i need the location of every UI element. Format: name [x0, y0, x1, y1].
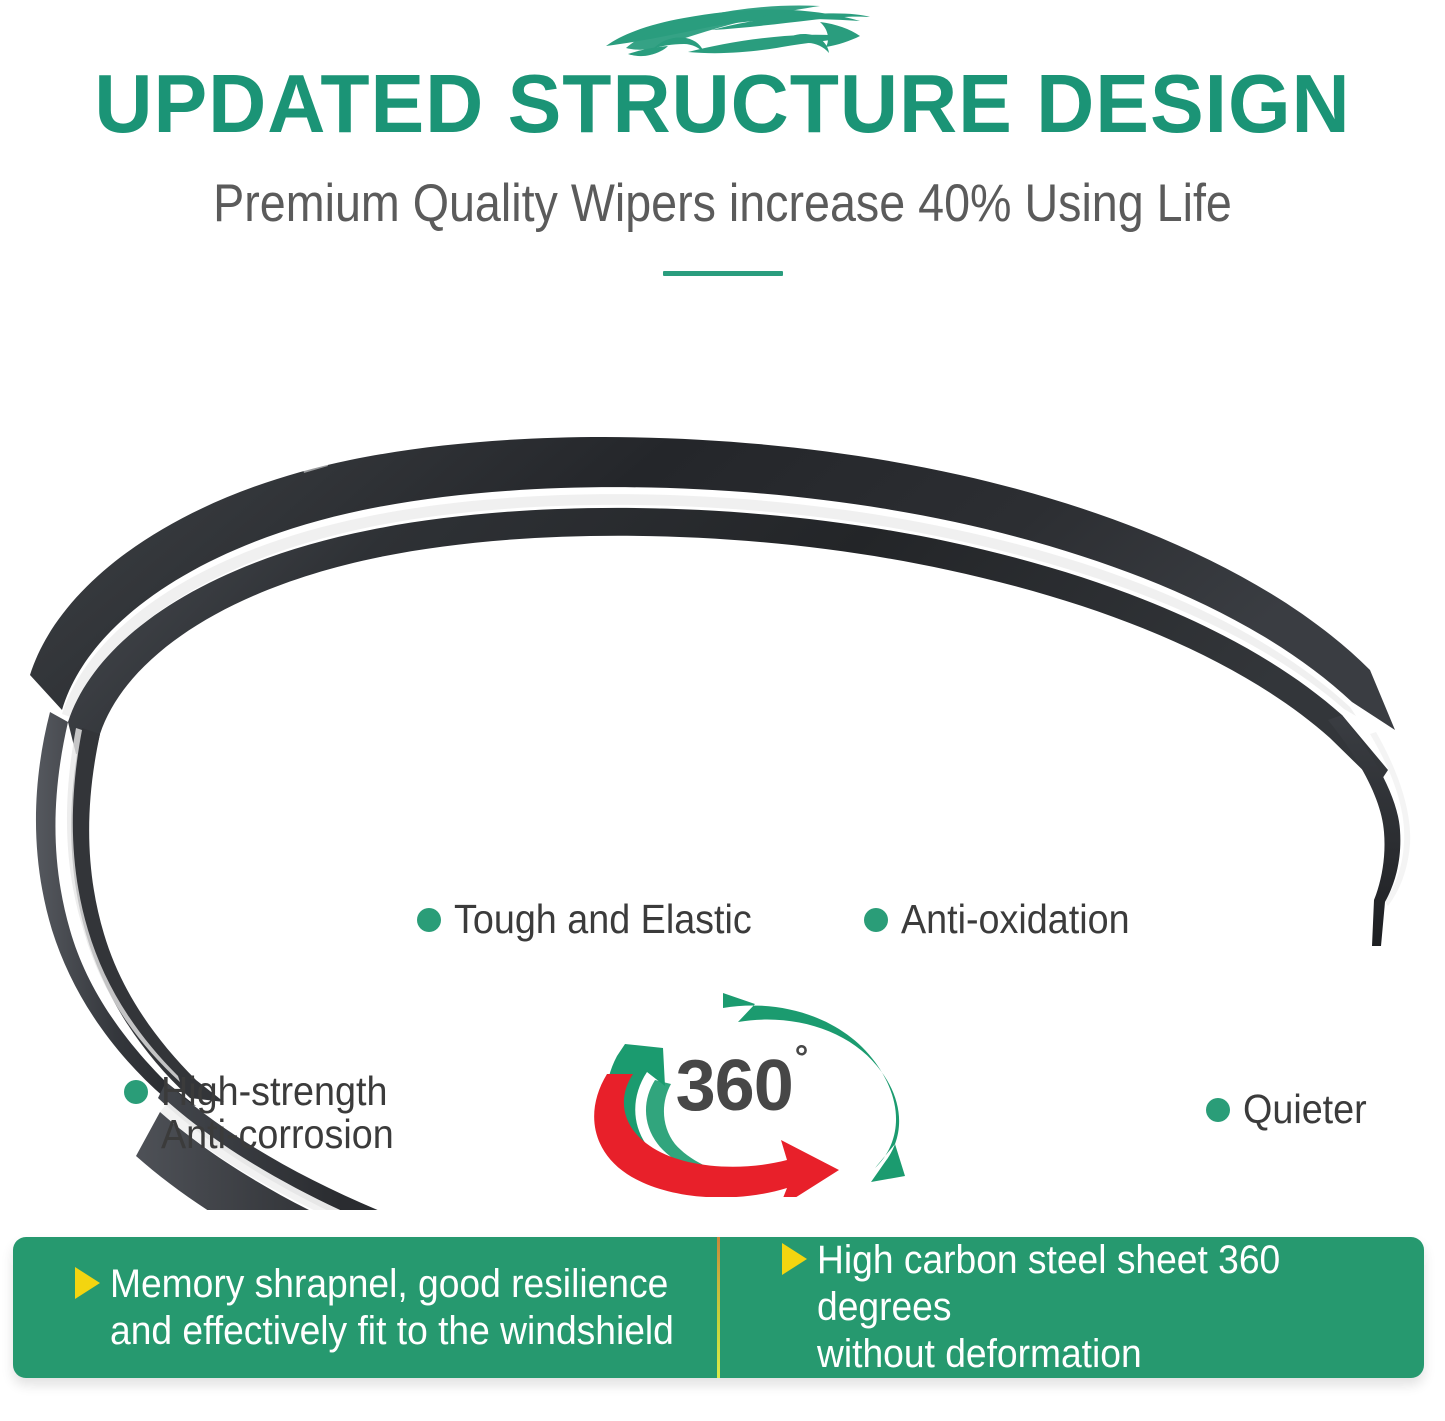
feature-label-high-strength-anti-corrosion: High-strength Anti-corrosion	[124, 1070, 414, 1156]
wiper-right-tip	[1328, 715, 1400, 946]
bullet-dot-icon	[417, 908, 441, 932]
title-divider	[663, 271, 783, 276]
wiper-notch-a	[268, 587, 303, 611]
feature-label-text: Quieter	[1243, 1088, 1367, 1131]
bullet-dot-icon	[1206, 1098, 1230, 1122]
header: UPDATED STRUCTURE DESIGN Premium Quality…	[0, 0, 1445, 300]
360-rotation-arrows-icon	[575, 982, 915, 1197]
feature-label-anti-oxidation: Anti-oxidation	[864, 898, 1149, 941]
bullet-dot-icon	[864, 908, 888, 932]
wiper-notch-b	[286, 606, 321, 631]
feature-label-text: High-strength Anti-corrosion	[161, 1070, 394, 1156]
product-image-area: Tough and Elastic Anti-oxidation High-st…	[0, 330, 1445, 1210]
banner-item-memory-shrapnel: Memory shrapnel, good resilience and eff…	[13, 1237, 717, 1378]
banner-item-text: Memory shrapnel, good resilience and eff…	[110, 1261, 674, 1355]
car-silhouette-icon	[592, 2, 872, 60]
bottom-feature-banner: Memory shrapnel, good resilience and eff…	[13, 1237, 1424, 1378]
triangle-right-icon	[75, 1267, 100, 1299]
feature-label-tough-and-elastic: Tough and Elastic	[417, 898, 778, 941]
page-title: UPDATED STRUCTURE DESIGN	[22, 58, 1424, 150]
feature-label-quieter: Quieter	[1206, 1088, 1377, 1131]
page-subtitle: Premium Quality Wipers increase 40% Usin…	[87, 173, 1359, 235]
bullet-dot-icon	[124, 1080, 148, 1104]
green-arrow-top	[723, 993, 905, 1182]
triangle-right-icon	[782, 1243, 807, 1275]
feature-label-text: Tough and Elastic	[454, 898, 752, 941]
banner-item-high-carbon-steel: High carbon steel sheet 360 degrees with…	[720, 1237, 1424, 1378]
wiper-left-fold-rear	[36, 712, 196, 1106]
banner-item-text: High carbon steel sheet 360 degrees with…	[817, 1237, 1382, 1378]
360-degree-badge: 360 °	[575, 982, 915, 1197]
feature-label-text: Anti-oxidation	[901, 898, 1130, 941]
